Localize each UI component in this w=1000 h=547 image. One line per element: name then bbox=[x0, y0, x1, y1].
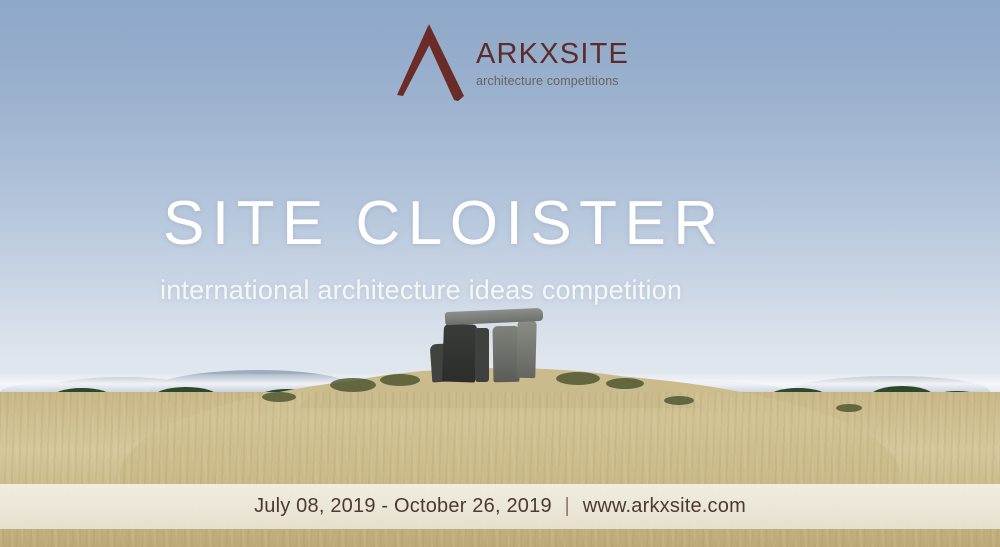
dolmen-upright-stone bbox=[442, 323, 477, 382]
dolmen-monument bbox=[421, 310, 557, 382]
competition-dates: July 08, 2019 - October 26, 2019 bbox=[254, 495, 552, 517]
arkxsite-triangle-a-logo-icon bbox=[392, 22, 470, 106]
website-link[interactable]: www.arkxsite.com bbox=[583, 495, 746, 517]
dolmen-upright-stone bbox=[475, 328, 489, 382]
footer-info: July 08, 2019 - October 26, 2019 | www.a… bbox=[254, 495, 746, 518]
arkxsite-tagline: architecture competitions bbox=[476, 74, 629, 88]
dolmen-upright-stone bbox=[516, 320, 537, 378]
competition-poster: ARKXSITE architecture competitions SITE … bbox=[0, 0, 1000, 547]
scrub-bush bbox=[606, 378, 644, 389]
competition-title: SITE CLOISTER bbox=[163, 193, 726, 255]
competition-subtitle: international architecture ideas competi… bbox=[160, 277, 682, 304]
scrub-bush bbox=[262, 392, 296, 402]
arkxsite-wordmark: ARKXSITE bbox=[476, 40, 629, 69]
scrub-bush bbox=[330, 378, 376, 392]
scrub-bush bbox=[380, 374, 420, 386]
scrub-bush bbox=[664, 396, 694, 405]
scrub-bush bbox=[556, 372, 600, 385]
footer-separator: | bbox=[558, 495, 577, 517]
footer-band: July 08, 2019 - October 26, 2019 | www.a… bbox=[0, 484, 1000, 529]
arkxsite-logo[interactable]: ARKXSITE architecture competitions bbox=[392, 22, 624, 106]
scrub-bush bbox=[836, 404, 862, 412]
arkxsite-logo-text: ARKXSITE architecture competitions bbox=[476, 40, 629, 88]
